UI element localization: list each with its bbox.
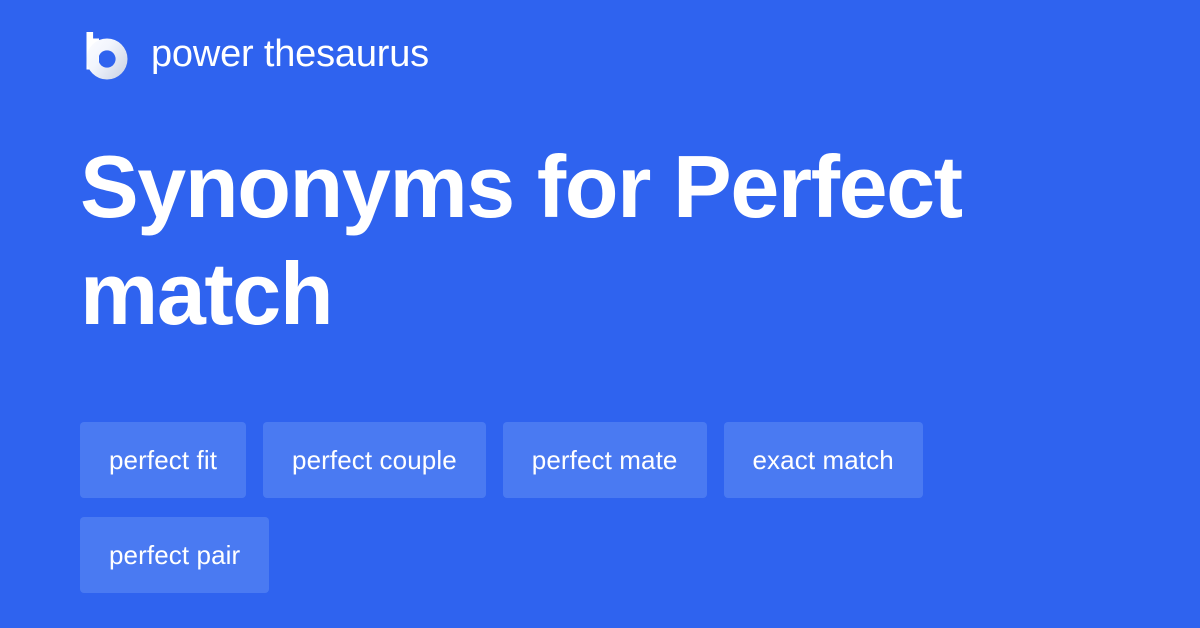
synonym-chip[interactable]: perfect mate — [503, 422, 707, 498]
synonym-chip[interactable]: perfect pair — [80, 517, 269, 593]
share-card: power thesaurus Synonyms for Perfect mat… — [0, 0, 1200, 628]
page-title: Synonyms for Perfect match — [80, 133, 1080, 348]
brand-name: power thesaurus — [151, 35, 429, 73]
brand-logo[interactable]: power thesaurus — [80, 28, 429, 80]
power-thesaurus-b-logo-icon — [80, 28, 132, 80]
synonym-chip[interactable]: perfect fit — [80, 422, 246, 498]
synonym-chip-list: perfect fit perfect couple perfect mate … — [80, 422, 1120, 593]
synonym-chip[interactable]: exact match — [724, 422, 923, 498]
synonym-chip[interactable]: perfect couple — [263, 422, 486, 498]
